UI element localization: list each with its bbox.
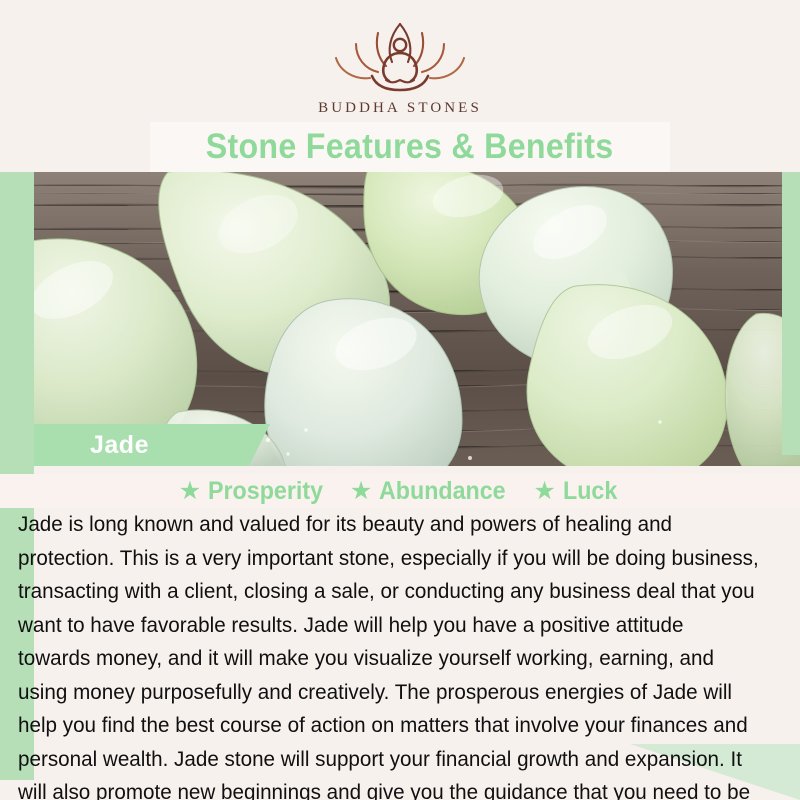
star-icon: ★ [350,479,372,504]
page-title: Stone Features & Benefits [206,127,614,167]
benefit-label: Prosperity [208,477,323,506]
star-icon: ★ [179,479,201,504]
jade-tumbled-stones-photo [0,172,800,466]
description-text: Jade is long known and valued for its be… [18,508,759,800]
brand-logo: BUDDHA STONES [0,18,800,117]
star-icon: ★ [533,479,555,504]
lotus-meditation-icon [320,18,480,96]
stone-name-band: Jade [34,424,249,466]
stone-info-card: BUDDHA STONES Stone Features & Benefits [0,0,800,800]
benefit-label: Abundance [379,477,506,506]
benefit-item: ★ Abundance [350,477,516,506]
benefit-item: ★ Prosperity [179,477,332,506]
benefits-row: ★ Prosperity ★ Abundance ★ Luck [0,474,800,508]
benefit-label: Luck [563,477,617,506]
brand-name: BUDDHA STONES [318,100,482,117]
title-banner: Stone Features & Benefits [150,122,670,172]
benefit-item: ★ Luck [533,477,621,506]
description-block: Jade is long known and valued for its be… [18,508,790,800]
stone-name: Jade [90,431,149,460]
